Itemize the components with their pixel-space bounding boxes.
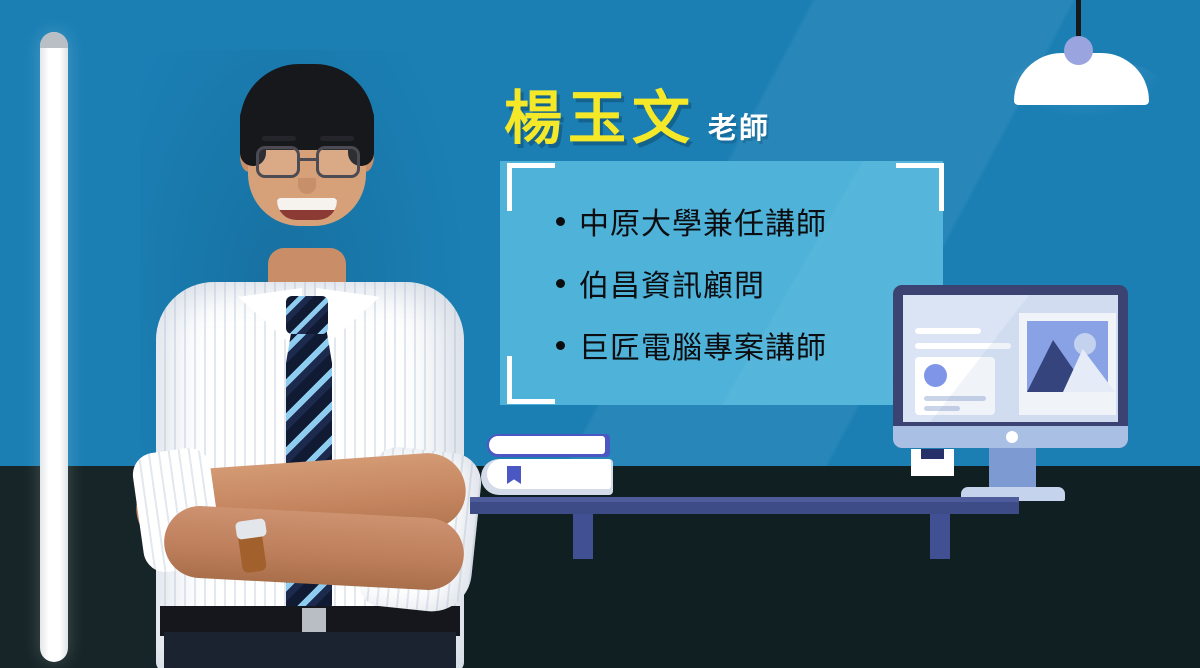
portrait-smile [277,198,337,220]
monitor-power-icon [1006,431,1018,443]
tube-light [40,32,68,662]
instructor-profile-banner: 中年男性講師，戴眼鏡，白色條紋襯衫與深藍條紋領帶，雙手交叉胸前 楊玉文 老師 中… [0,0,1200,668]
sun-icon [1074,333,1096,355]
list-item: 伯昌資訊顧問 [556,252,936,314]
instructor-portrait: 中年男性講師，戴眼鏡，白色條紋襯衫與深藍條紋領帶，雙手交叉胸前 [120,20,492,668]
book-bottom-pages [487,459,611,489]
list-item: 中原大學兼任講師 [556,190,936,252]
desktop-monitor-neck [989,448,1036,491]
portrait-belt-buckle [302,608,326,634]
instructor-name: 楊玉文 [504,90,696,148]
wall-shelf-highlight [470,497,1019,502]
wall-shelf-bracket-right [930,514,950,559]
credential-text: 中原大學兼任講師 [579,199,827,243]
portrait-glasses-bridge [300,158,316,161]
pendant-lamp-ball [1064,36,1093,65]
portrait-teeth [277,198,337,210]
credentials-list: 中原大學兼任講師 伯昌資訊顧問 巨匠電腦專案講師 [556,190,936,376]
page-title: 楊玉文 老師 [504,90,770,148]
bullet-dot-icon [556,341,565,350]
book-top-pages [489,436,605,454]
screen-card-line [924,406,960,411]
list-item: 巨匠電腦專案講師 [556,314,936,376]
wall-shelf-bracket-left [573,514,593,559]
portrait-necktie-knot [286,296,328,334]
portrait-glasses-left-lens [256,146,300,178]
portrait-eyebrow-right [320,136,354,141]
corner-bracket-top-left [507,163,555,211]
credential-text: 巨匠電腦專案講師 [579,323,827,367]
portrait-glasses-right-lens [316,146,360,178]
corner-bracket-bottom-left [507,356,555,404]
portrait-trousers [164,632,456,668]
portrait-alt-text: 中年男性講師，戴眼鏡，白色條紋襯衫與深藍條紋領帶，雙手交叉胸前 [120,20,121,21]
screen-card-line [924,396,986,401]
bullet-dot-icon [556,217,565,226]
portrait-eyebrow-left [262,136,296,141]
screen-text-line [915,328,981,334]
bullet-dot-icon [556,279,565,288]
instructor-honorific: 老師 [708,115,770,144]
avatar-icon [924,364,947,387]
sticky-note-tab [921,449,944,459]
screen-text-line [915,343,1011,349]
credential-text: 伯昌資訊顧問 [579,261,765,305]
